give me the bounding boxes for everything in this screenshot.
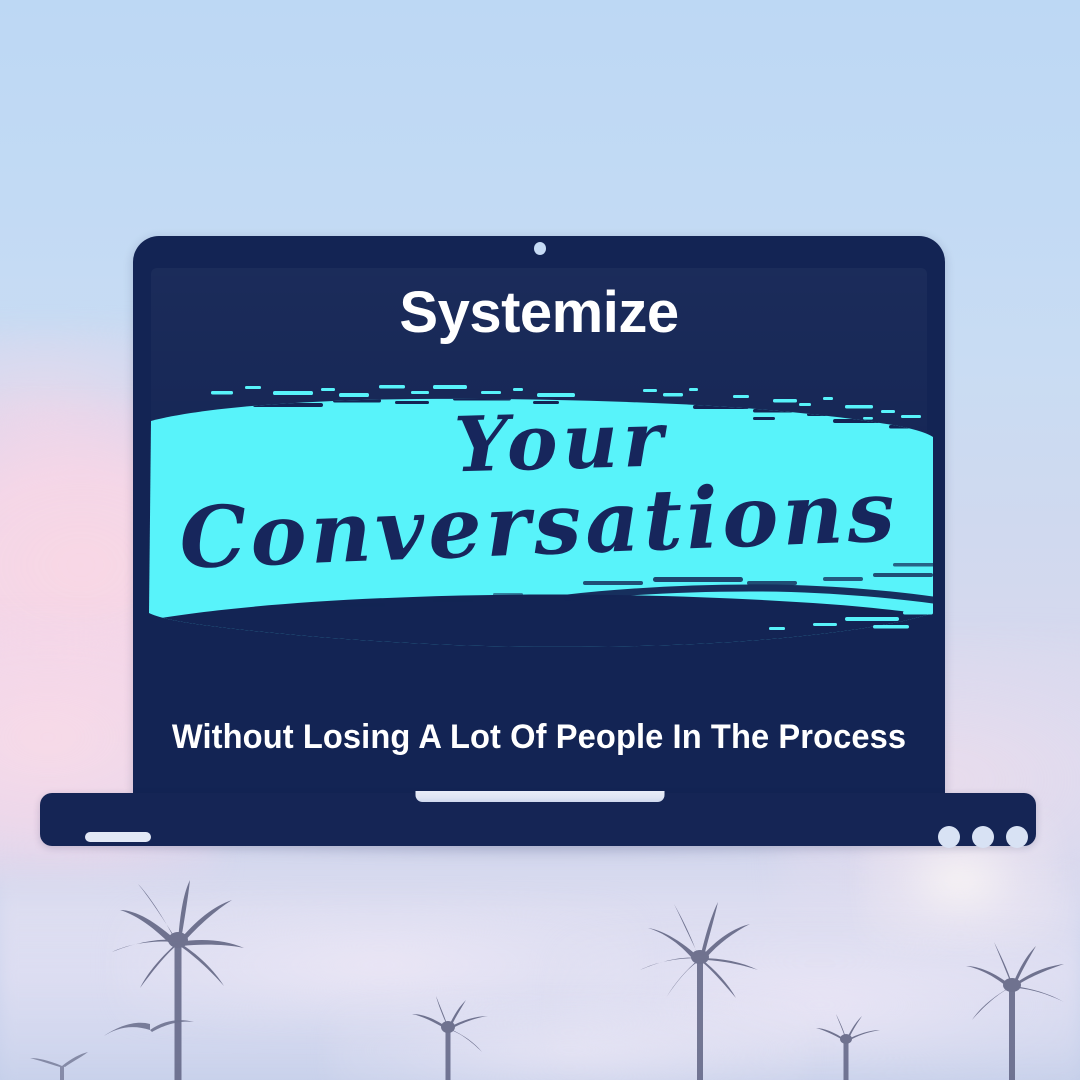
page-subtitle: Without Losing A Lot Of People In The Pr… [149,718,929,757]
webcam-dot-icon [534,242,546,255]
brush-stroke-shape [133,355,945,700]
indicator-dot-1 [938,826,960,848]
poster-canvas: Systemize [0,0,1080,1080]
laptop-base-shadow [60,845,1020,861]
brush-stroke-banner: Your Conversations [133,355,945,700]
lid-notch [416,791,665,802]
page-title: Systemize [133,283,945,344]
base-slot-icon [85,832,151,842]
base-indicator-dots [938,826,1028,848]
indicator-dot-3 [1006,826,1028,848]
indicator-dot-2 [972,826,994,848]
laptop-device: Systemize [0,0,1080,1080]
